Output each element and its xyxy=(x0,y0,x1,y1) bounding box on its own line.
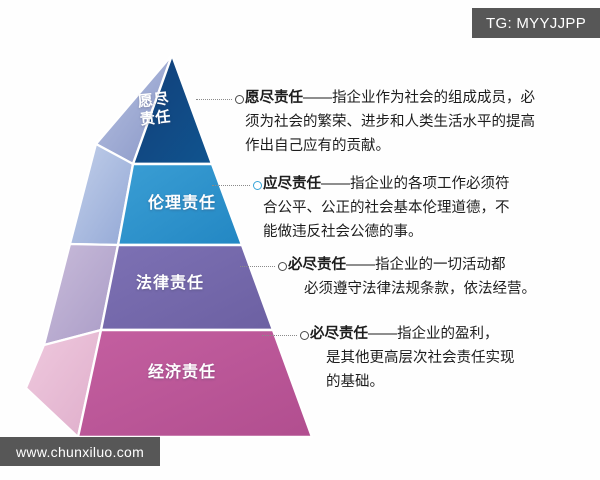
watermark-top-right: TG: MYYJJPP xyxy=(472,8,600,38)
tier-2-front-face xyxy=(118,164,242,245)
callout-3-line-2: 必须遵守法律法规条款，依法经营。 xyxy=(288,277,536,301)
callout-1-line-2: 须为社会的繁荣、进步和人类生活水平的提高 xyxy=(245,110,535,134)
callout-4: 必尽责任——指企业的盈利， 是其他更高层次社会责任实现 的基础。 xyxy=(310,322,578,394)
callout-2-line-3: 能做违反社会公德的事。 xyxy=(263,220,510,244)
callout-4-marker-icon xyxy=(300,331,309,340)
callout-1-text: 愿尽责任——指企业作为社会的组成成员，必 须为社会的繁荣、进步和人类生活水平的提… xyxy=(245,86,535,158)
tier-3-front-face xyxy=(101,245,273,330)
callout-2-line-2: 合公平、公正的社会基本伦理道德，不 xyxy=(263,196,510,220)
callout-2-dash: —— xyxy=(321,176,350,192)
callout-2-text: 应尽责任——指企业的各项工作必须符 合公平、公正的社会基本伦理道德，不 能做违反… xyxy=(263,172,510,244)
callout-4-dotted-line xyxy=(262,335,297,336)
callout-4-term: 必尽责任 xyxy=(310,326,368,342)
callout-2-dotted-line xyxy=(212,185,250,186)
callout-1-connector xyxy=(196,93,244,105)
callout-4-line-1-rest: 指企业的盈利， xyxy=(397,326,499,342)
callout-3-connector xyxy=(240,260,287,272)
callout-1-dash: —— xyxy=(303,90,332,106)
callout-1-line-3: 作出自己应有的贡献。 xyxy=(245,134,535,158)
callout-1-term: 愿尽责任 xyxy=(245,90,303,106)
callout-4-dash: —— xyxy=(368,326,397,342)
callout-1-line-1-rest: 指企业作为社会的组成成员，必 xyxy=(332,90,535,106)
callout-4-line-3: 的基础。 xyxy=(310,370,515,394)
callout-3-line-1-rest: 指企业的一切活动都 xyxy=(375,257,506,273)
callout-2-line-1: 应尽责任——指企业的各项工作必须符 xyxy=(263,172,510,196)
callout-3-dash: —— xyxy=(346,257,375,273)
callout-4-connector xyxy=(262,329,309,341)
callout-3-text: 必尽责任——指企业的一切活动都 必须遵守法律法规条款，依法经营。 xyxy=(288,253,536,301)
callout-3-term: 必尽责任 xyxy=(288,257,346,273)
callout-4-line-2: 是其他更高层次社会责任实现 xyxy=(310,346,515,370)
callout-4-line-1: 必尽责任——指企业的盈利， xyxy=(310,322,515,346)
callout-2-connector xyxy=(212,179,262,191)
callout-4-text: 必尽责任——指企业的盈利， 是其他更高层次社会责任实现 的基础。 xyxy=(310,322,515,394)
callout-3-line-1: 必尽责任——指企业的一切活动都 xyxy=(288,253,536,277)
watermark-bottom-left: www.chunxiluo.com xyxy=(0,437,160,466)
callout-2-line-1-rest: 指企业的各项工作必须符 xyxy=(350,176,510,192)
callout-1-line-1: 愿尽责任——指企业作为社会的组成成员，必 xyxy=(245,86,535,110)
callout-2-marker-icon xyxy=(253,181,262,190)
callout-2-term: 应尽责任 xyxy=(263,176,321,192)
callout-3-marker-icon xyxy=(278,262,287,271)
callout-1-marker-icon xyxy=(235,95,244,104)
callout-3-dotted-line xyxy=(240,266,275,267)
callout-2: 应尽责任——指企业的各项工作必须符 合公平、公正的社会基本伦理道德，不 能做违反… xyxy=(263,172,575,244)
callout-1-dotted-line xyxy=(196,99,232,100)
tier-4-front-face xyxy=(78,330,312,437)
diagram-canvas: 愿尽 责任 伦理责任 法律责任 经济责任 愿尽责任——指企业作为社会的组成成员，… xyxy=(0,0,600,480)
callout-1: 愿尽责任——指企业作为社会的组成成员，必 须为社会的繁荣、进步和人类生活水平的提… xyxy=(245,86,575,158)
callout-3: 必尽责任——指企业的一切活动都 必须遵守法律法规条款，依法经营。 xyxy=(288,253,578,301)
